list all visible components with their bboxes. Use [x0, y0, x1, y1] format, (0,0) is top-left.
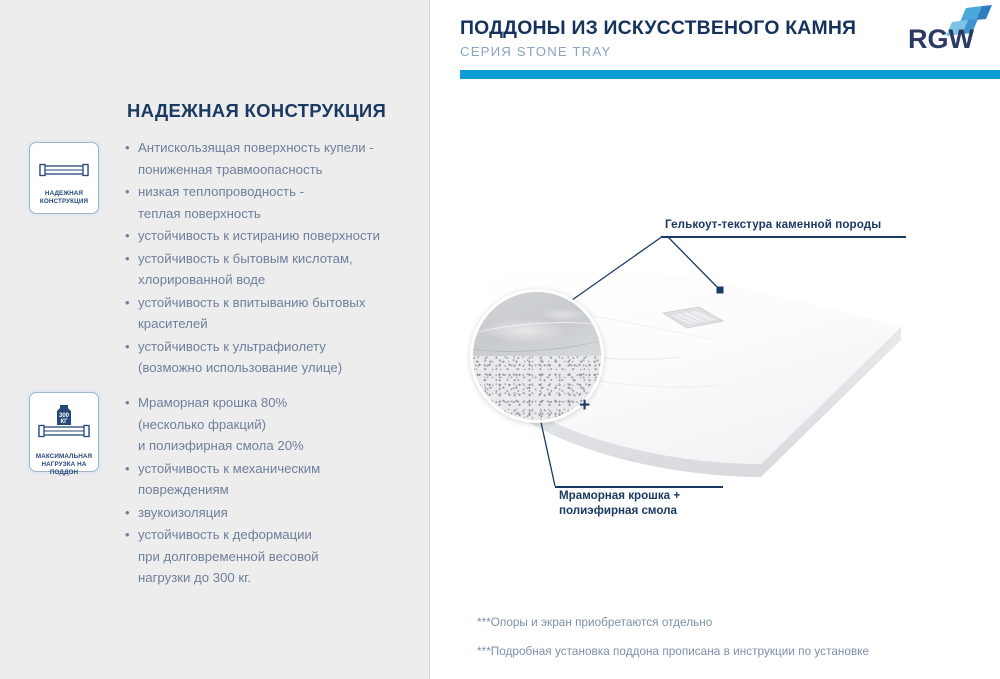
badge-reliable-construction: НАДЕЖНАЯ КОНСТРУКЦИЯ [29, 142, 99, 214]
list-item: устойчивость к деформации при долговреме… [124, 524, 424, 589]
footnote-text: Опоры и экран приобретаются отдельно [491, 616, 712, 629]
svg-text:КГ: КГ [60, 419, 68, 425]
reliability-feature-list: Антискользящая поверхность купели - пони… [124, 137, 424, 380]
right-content-panel: ПОДДОНЫ ИЗ ИСКУССТВЕНОГО КАМНЯ СЕРИЯ STO… [431, 0, 1000, 679]
list-item: устойчивость к ультрафиолету (возможно и… [124, 336, 424, 379]
list-item: устойчивость к впитыванию бытовых красит… [124, 292, 424, 335]
list-item: устойчивость к истиранию поверхности [124, 225, 424, 247]
list-item: устойчивость к механическим повреждениям [124, 458, 424, 501]
plus-sign-label: + [579, 395, 590, 417]
badge-max-load: 300 КГ МАКСИМАЛЬНАЯ НАГРУЗКА НА ПОДДОН [29, 392, 99, 472]
list-item: звукоизоляция [124, 502, 424, 524]
footnote-marker: *** [477, 645, 491, 658]
rgw-logo: RGW [906, 4, 992, 60]
list-item: устойчивость к бытовым кислотам, хлориро… [124, 248, 424, 291]
list-item: Мраморная крошка 80% (несколько фракций)… [124, 392, 424, 457]
page-title: ПОДДОНЫ ИЗ ИСКУССТВЕНОГО КАМНЯ [460, 17, 856, 40]
footnote-text: Подробная установка поддона прописана в … [491, 645, 869, 658]
header-accent-bar [460, 70, 1000, 79]
badge-reliable-construction-caption: НАДЕЖНАЯ КОНСТРУКЦИЯ [33, 190, 95, 206]
material-feature-list: Мраморная крошка 80% (несколько фракций)… [124, 392, 424, 590]
product-illustration: + Гелькоут-текстура каменной породы Мрам… [431, 95, 1000, 575]
weight-on-tray-icon: 300 КГ [37, 402, 91, 446]
gelcoat-texture-swatch [473, 292, 601, 356]
callout-label-marble: Мраморная крошка + полиэфирная смола [559, 488, 680, 518]
list-item: низкая теплопроводность - теплая поверхн… [124, 181, 424, 224]
footnote: ***Опоры и экран приобретаются отдельно [477, 616, 712, 629]
badge-max-load-caption: МАКСИМАЛЬНАЯ НАГРУЗКА НА ПОДДОН [33, 453, 95, 477]
callout-underline-gelcoat [661, 236, 906, 238]
logo-wordmark: RGW [908, 24, 975, 54]
callout-underline-marble [555, 486, 723, 488]
list-item: Антискользящая поверхность купели - пони… [124, 137, 424, 180]
footnote-marker: *** [477, 616, 491, 629]
page-subtitle: СЕРИЯ STONE TRAY [460, 44, 611, 59]
footnote: ***Подробная установка поддона прописана… [477, 645, 869, 658]
left-sidebar-panel: НАДЕЖНАЯ КОНСТРУКЦИЯ НАДЕЖНАЯ КОНСТРУКЦИ… [0, 0, 430, 679]
callout-label-gelcoat: Гелькоут-текстура каменной породы [665, 218, 881, 231]
sidebar-heading: НАДЕЖНАЯ КОНСТРУКЦИЯ [127, 100, 386, 122]
shower-tray-icon [39, 162, 89, 178]
